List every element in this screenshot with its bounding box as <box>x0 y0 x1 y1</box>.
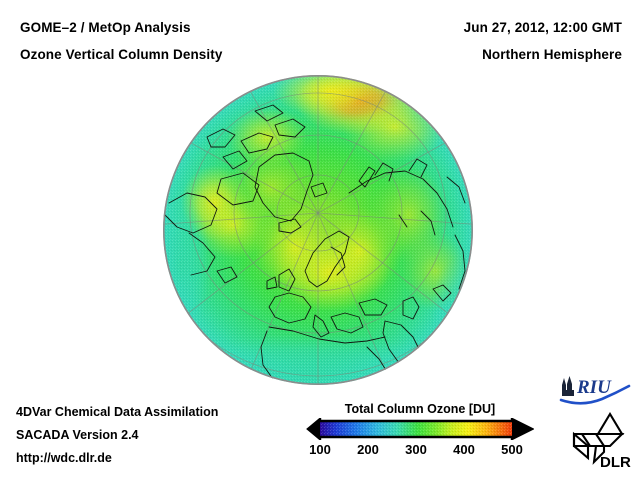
colorbar-title: Total Column Ozone [DU] <box>300 402 540 416</box>
colorbar-tick-100: 100 <box>300 442 340 457</box>
riu-logo: RIU <box>558 374 632 406</box>
colorbar-tick-400: 400 <box>444 442 484 457</box>
colorbar: Total Column Ozone [DU] 100200300400500 <box>300 400 540 478</box>
colorbar-extend-high-arrow <box>512 419 532 439</box>
timestamp-label: Jun 27, 2012, 12:00 GMT <box>464 20 622 35</box>
colorbar-tick-200: 200 <box>348 442 388 457</box>
dlr-logo: DLR <box>570 412 632 470</box>
region-label: Northern Hemisphere <box>482 47 622 62</box>
colorbar-tick-500: 500 <box>492 442 532 457</box>
header: GOME–2 / MetOp Analysis Ozone Vertical C… <box>0 0 640 72</box>
source-url: http://wdc.dlr.de <box>16 451 112 465</box>
colorbar-ticklabels: 100200300400500 <box>300 442 540 464</box>
riu-wordmark: RIU <box>576 377 612 398</box>
colorbar-extend-low-arrow <box>308 419 320 439</box>
colorbar-scale <box>306 418 534 440</box>
cathedral-icon <box>562 376 574 396</box>
globe-map <box>163 75 473 385</box>
footer: 4DVar Chemical Data Assimilation SACADA … <box>0 400 300 480</box>
dlr-wordmark: DLR <box>600 454 631 470</box>
product-subtitle: Ozone Vertical Column Density <box>20 47 222 62</box>
method-label: 4DVar Chemical Data Assimilation <box>16 405 218 419</box>
version-label: SACADA Version 2.4 <box>16 428 139 442</box>
page-title: GOME–2 / MetOp Analysis <box>20 20 191 35</box>
colorbar-tick-300: 300 <box>396 442 436 457</box>
ozone-field-visualization <box>163 75 473 385</box>
